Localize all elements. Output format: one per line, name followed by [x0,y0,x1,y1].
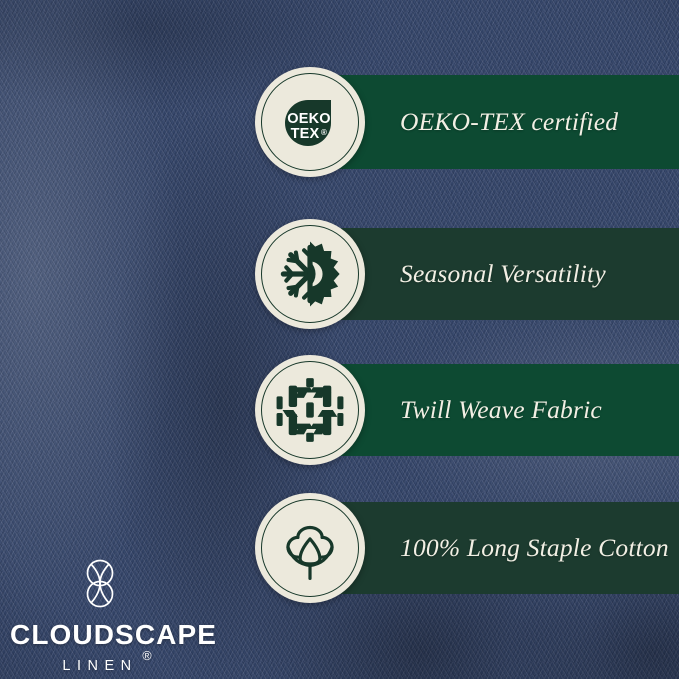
cotton-boll-icon [272,510,348,586]
tex-label: TEX [291,126,320,142]
feature-label: Seasonal Versatility [400,259,606,289]
oeko-label: OEKO [287,111,331,127]
brand-subtitle-text: LINEN [62,658,137,674]
feature-badge [255,355,365,465]
registered-trademark-icon: ® [142,649,151,663]
brand-mark-wrap [10,556,190,612]
brand-logo: CLOUDSCAPE LINEN ® [10,556,190,675]
brand-name: CLOUDSCAPE [10,621,190,649]
brand-subtitle: LINEN ® [62,658,137,674]
snowflake-sun-icon [273,237,347,311]
oeko-tex-logo-icon: OEKO TEX ® [271,83,349,161]
feature-label: OEKO-TEX certified [400,107,618,137]
product-feature-infographic: OEKO TEX ® OEKO-TEX certified [0,0,679,679]
woven-fabric-icon [272,372,348,448]
feature-label: Twill Weave Fabric [400,395,602,425]
feature-badge: OEKO TEX ® [255,67,365,177]
feature-row-oeko-tex: OEKO TEX ® OEKO-TEX certified [0,75,679,169]
registered-mark: ® [321,128,327,137]
feature-label: 100% Long Staple Cotton [400,533,669,563]
feature-row-twill-weave: Twill Weave Fabric [0,364,679,456]
feature-row-seasonal-versatility: Seasonal Versatility [0,228,679,320]
cloudscape-infinity-mark-icon [78,556,122,612]
feature-badge [255,493,365,603]
feature-badge [255,219,365,329]
